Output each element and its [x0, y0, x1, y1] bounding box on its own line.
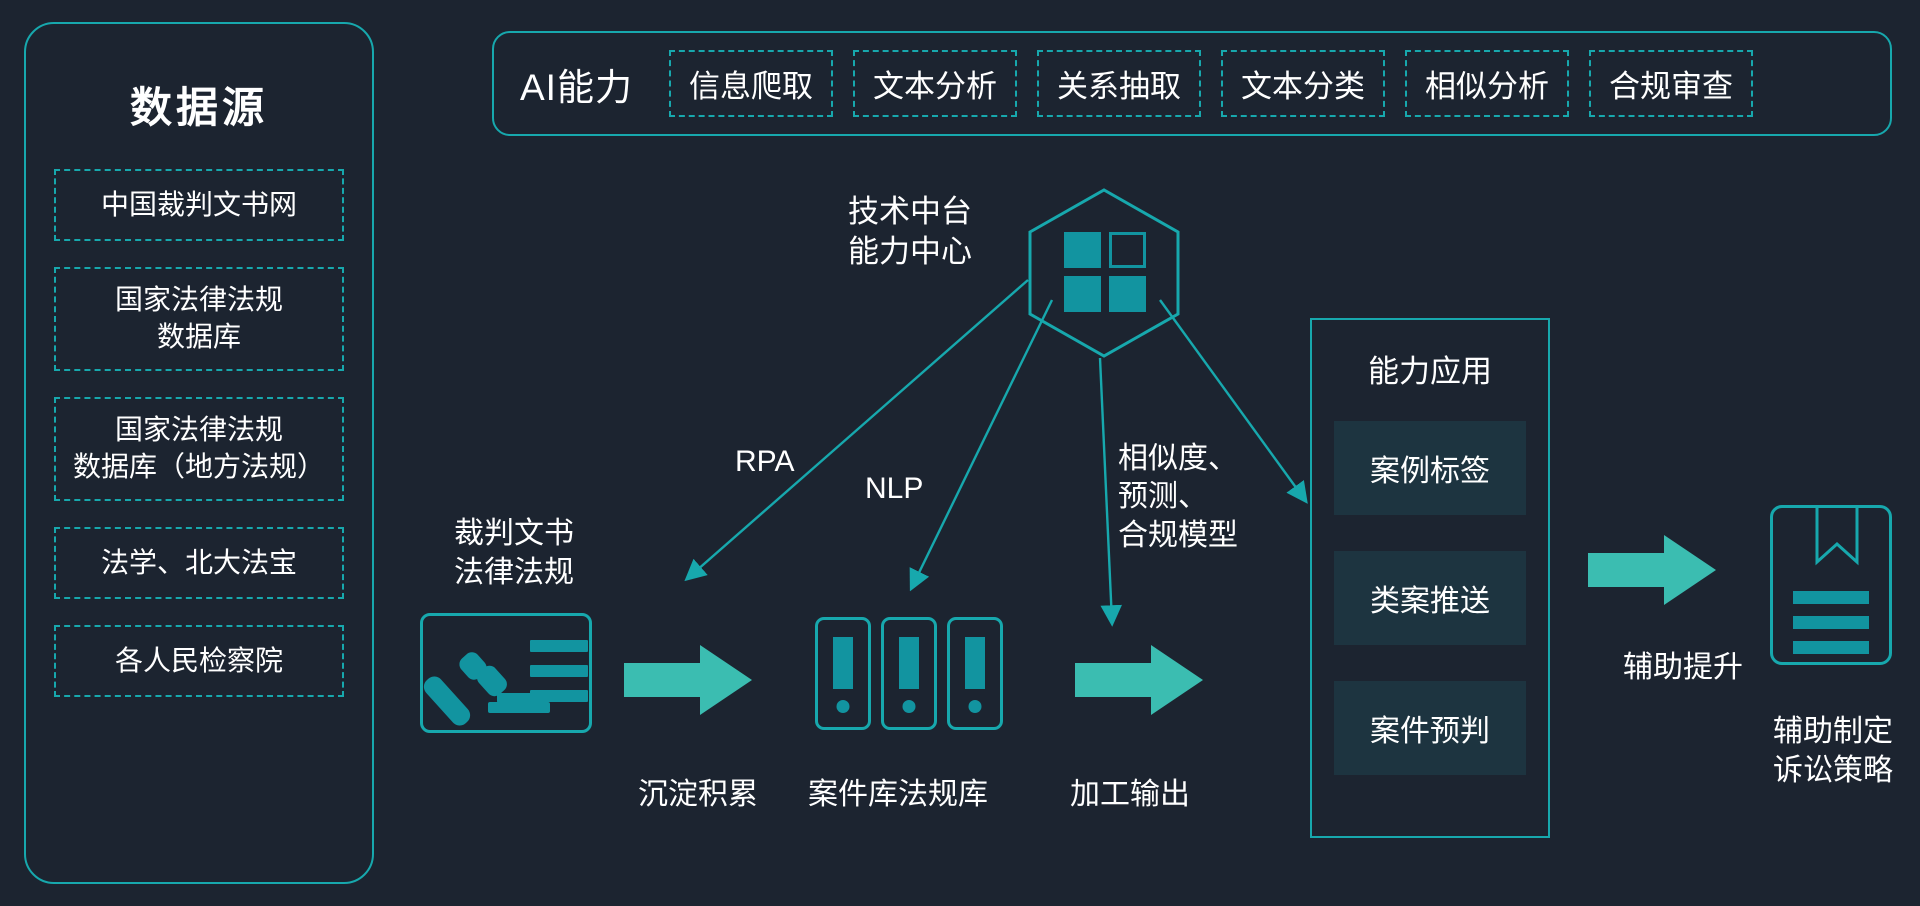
flow-arrow-3 [1588, 535, 1716, 605]
datasource-item-4[interactable]: 法学、北大法宝 [54, 527, 344, 599]
datasource-item-5[interactable]: 各人民检察院 [54, 625, 344, 697]
ai-chip-similarity[interactable]: 相似分析 [1405, 50, 1569, 117]
datasource-panel: 数据源 中国裁判文书网 国家法律法规 数据库 国家法律法规 数据库（地方法规） … [24, 22, 374, 884]
book-line-3 [1793, 641, 1869, 654]
edge-label-rpa: RPA [735, 443, 794, 481]
server-slot [899, 637, 919, 689]
doc-line-2 [530, 665, 588, 677]
datasource-item-2[interactable]: 国家法律法规 数据库 [54, 267, 344, 371]
ai-chip-compliance[interactable]: 合规审查 [1589, 50, 1753, 117]
doc-line-3 [530, 690, 588, 702]
ai-capability-title: AI能力 [520, 57, 633, 111]
ai-chip-crawl[interactable]: 信息爬取 [669, 50, 833, 117]
stage1-title: 裁判文书 法律法规 [424, 514, 604, 592]
capability-item-case-tag[interactable]: 案例标签 [1334, 421, 1526, 515]
tech-hub-label: 技术中台 能力中心 [848, 192, 972, 273]
server-1 [815, 617, 871, 730]
hex-square-tr [1109, 232, 1146, 268]
hexagon-grid-icon [1064, 232, 1146, 312]
edge-rpa [688, 280, 1028, 578]
stage3-caption: 加工输出 [1030, 775, 1230, 814]
edge-label-similarity: 相似度、 预测、 合规模型 [1118, 440, 1238, 555]
flow-arrow-1 [624, 645, 752, 715]
book-line-1 [1793, 591, 1869, 604]
capability-application-title: 能力应用 [1334, 346, 1526, 391]
doc-line-1 [530, 640, 588, 652]
hex-square-br [1109, 276, 1146, 312]
book-line-2 [1793, 616, 1869, 629]
stage1-caption: 沉淀积累 [608, 775, 788, 814]
stage2-caption: 案件库法规库 [788, 775, 1008, 814]
book-lines-icon [1793, 591, 1869, 654]
capability-application-panel: 能力应用 案例标签 类案推送 案件预判 [1310, 318, 1550, 838]
server-slot [833, 637, 853, 689]
server-2 [881, 617, 937, 730]
edge-nlp [912, 300, 1052, 587]
capability-item-case-predict[interactable]: 案件预判 [1334, 681, 1526, 775]
server-rack-icon [815, 617, 1003, 730]
flow-arrow-2 [1075, 645, 1203, 715]
capability-item-case-push[interactable]: 类案推送 [1334, 551, 1526, 645]
ai-chip-relation[interactable]: 关系抽取 [1037, 50, 1201, 117]
diagram-canvas: 数据源 中国裁判文书网 国家法律法规 数据库 国家法律法规 数据库（地方法规） … [0, 0, 1920, 906]
ai-chip-textanalysis[interactable]: 文本分析 [853, 50, 1017, 117]
ai-capability-bar: AI能力 信息爬取 文本分析 关系抽取 文本分类 相似分析 合规审查 [492, 31, 1892, 136]
datasource-title: 数据源 [54, 74, 344, 135]
edge-label-nlp: NLP [865, 470, 923, 508]
datasource-item-1[interactable]: 中国裁判文书网 [54, 169, 344, 241]
document-lines-icon [530, 640, 588, 702]
server-led [903, 700, 916, 713]
ai-chip-classify[interactable]: 文本分类 [1221, 50, 1385, 117]
result-caption: 辅助制定 诉讼策略 [1758, 712, 1908, 790]
hex-square-tl [1064, 232, 1101, 268]
server-slot [965, 637, 985, 689]
server-led [837, 700, 850, 713]
edge-similarity [1100, 358, 1112, 622]
hex-square-bl [1064, 276, 1101, 312]
server-3 [947, 617, 1003, 730]
datasource-item-3[interactable]: 国家法律法规 数据库（地方法规） [54, 397, 344, 501]
assist-caption: 辅助提升 [1588, 648, 1778, 687]
server-led [969, 700, 982, 713]
